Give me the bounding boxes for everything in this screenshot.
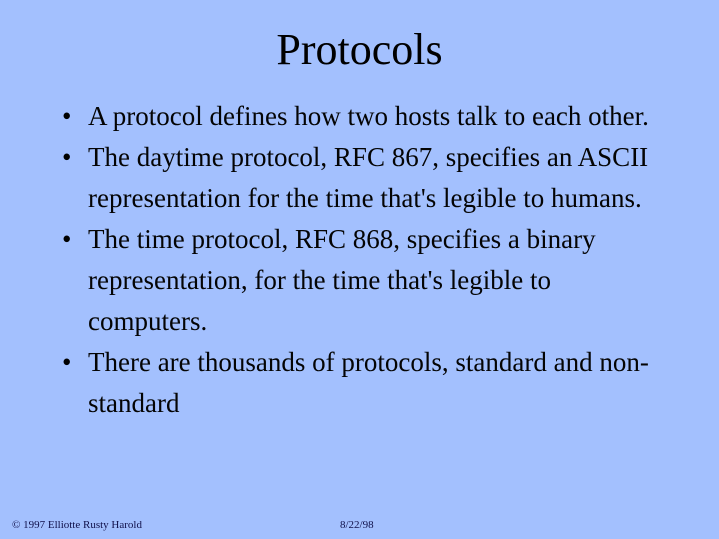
copyright-notice: © 1997 Elliotte Rusty Harold: [12, 517, 142, 533]
bullet-dot-icon: •: [62, 219, 80, 260]
list-item-label: The daytime protocol, RFC 867, specifies…: [88, 137, 658, 219]
list-item-label: The time protocol, RFC 868, specifies a …: [88, 219, 658, 342]
presentation-slide: Protocols • A protocol defines how two h…: [0, 0, 719, 539]
list-item: • There are thousands of protocols, stan…: [58, 342, 658, 424]
slide-footer: © 1997 Elliotte Rusty Harold 8/22/98: [0, 517, 719, 533]
list-item-label: There are thousands of protocols, standa…: [88, 342, 658, 424]
bullet-list: • A protocol defines how two hosts talk …: [58, 96, 658, 424]
bullet-dot-icon: •: [62, 137, 80, 178]
list-item: • The time protocol, RFC 868, specifies …: [58, 219, 658, 342]
page-title: Protocols: [0, 24, 719, 76]
slide-date: 8/22/98: [340, 517, 374, 533]
list-item-label: A protocol defines how two hosts talk to…: [88, 96, 658, 137]
bullet-dot-icon: •: [62, 342, 80, 383]
bullet-dot-icon: •: [62, 96, 80, 137]
list-item: • A protocol defines how two hosts talk …: [58, 96, 658, 137]
list-item: • The daytime protocol, RFC 867, specifi…: [58, 137, 658, 219]
